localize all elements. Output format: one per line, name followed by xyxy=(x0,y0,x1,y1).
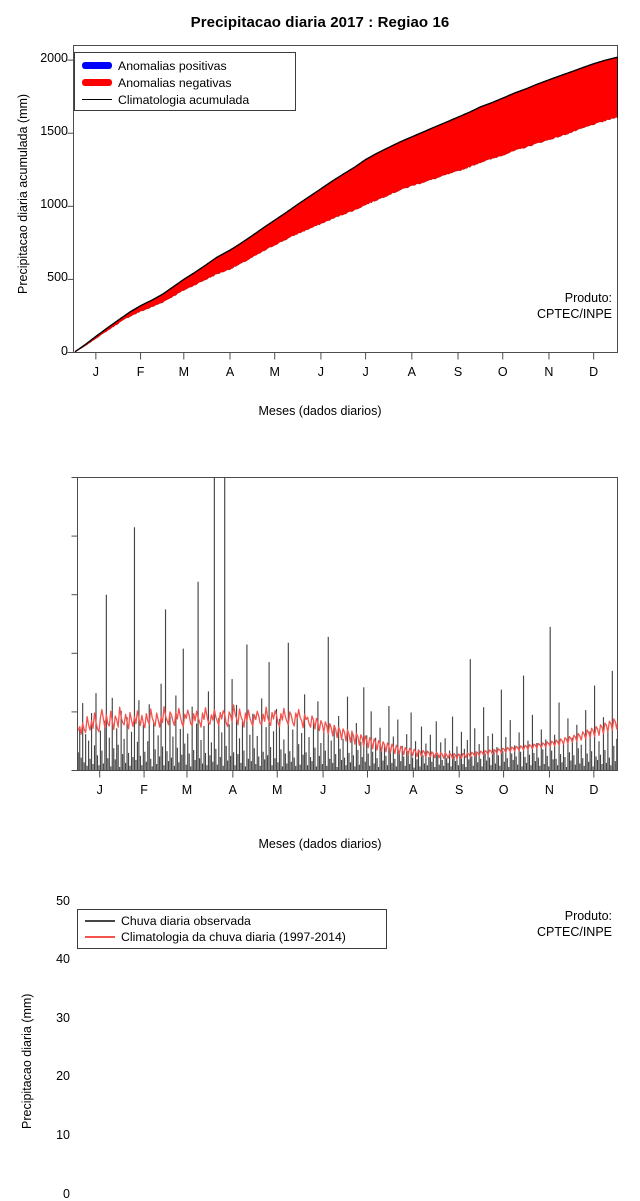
legend-label: Anomalias negativas xyxy=(116,76,231,90)
bottom-chart-legend: Chuva diaria observada Climatologia da c… xyxy=(77,909,387,949)
x-tick-label: M xyxy=(164,365,204,379)
x-tick-label: J xyxy=(346,365,386,379)
daily-precipitation-chart: 0 10 20 30 40 50 Precipitacao diaria (mm… xyxy=(0,425,640,850)
y-axis-title: Precipitacao diaria (mm) xyxy=(20,994,34,1129)
x-tick-label: J xyxy=(301,365,341,379)
x-tick-label: D xyxy=(574,365,614,379)
x-tick-label: N xyxy=(529,783,569,797)
x-tick-label: O xyxy=(483,365,523,379)
legend-swatch-gray-icon xyxy=(81,920,119,922)
top-chart-legend: Anomalias positivas Anomalias negativas … xyxy=(74,52,296,111)
y-tick-label: 0 xyxy=(18,344,68,358)
x-tick-label: S xyxy=(439,783,479,797)
producer-note-line1: Produto: xyxy=(0,290,612,306)
legend-item-climatologia-diaria[interactable]: Climatologia da chuva diaria (1997-2014) xyxy=(81,929,383,945)
legend-item-anomalias-positivas[interactable]: Anomalias positivas xyxy=(78,57,292,74)
y-tick-label: 10 xyxy=(22,1128,70,1142)
legend-item-climatologia-acumulada[interactable]: Climatologia acumulada xyxy=(78,91,292,108)
figure-page: Precipitacao diaria 2017 : Regiao 16 0 5… xyxy=(0,0,640,850)
y-tick-label: 0 xyxy=(22,1187,70,1201)
x-tick-label: A xyxy=(210,365,250,379)
legend-label: Chuva diaria observada xyxy=(119,914,251,928)
legend-swatch-black-icon xyxy=(78,99,116,101)
x-tick-label: M xyxy=(167,783,207,797)
legend-item-anomalias-negativas[interactable]: Anomalias negativas xyxy=(78,74,292,91)
x-tick-label: N xyxy=(529,365,569,379)
producer-note-line2: CPTEC/INPE xyxy=(0,306,612,322)
legend-swatch-red-icon xyxy=(81,936,119,938)
legend-label: Climatologia da chuva diaria (1997-2014) xyxy=(119,930,346,944)
x-tick-label: F xyxy=(121,365,161,379)
x-tick-label: A xyxy=(392,365,432,379)
x-tick-label: J xyxy=(347,783,387,797)
accumulated-precipitation-chart: Precipitacao diaria 2017 : Regiao 16 0 5… xyxy=(0,0,640,425)
x-axis-title: Meses (dados diarios) xyxy=(0,404,640,418)
x-tick-label: J xyxy=(303,783,343,797)
x-tick-label: S xyxy=(438,365,478,379)
y-tick-label: 2000 xyxy=(18,51,68,65)
x-tick-label: A xyxy=(213,783,253,797)
x-tick-label: M xyxy=(255,365,295,379)
y-axis-title: Precipitacao diaria acumulada (mm) xyxy=(16,94,30,294)
x-tick-label: A xyxy=(393,783,433,797)
x-tick-label: J xyxy=(80,783,120,797)
legend-label: Climatologia acumulada xyxy=(116,93,249,107)
x-tick-label: D xyxy=(574,783,614,797)
x-tick-label: M xyxy=(257,783,297,797)
legend-label: Anomalias positivas xyxy=(116,59,227,73)
y-tick-label: 50 xyxy=(22,894,70,908)
y-tick-label: 40 xyxy=(22,952,70,966)
x-tick-label: J xyxy=(76,365,116,379)
x-tick-label: F xyxy=(124,783,164,797)
legend-swatch-blue-icon xyxy=(78,62,116,69)
producer-note: Produto: CPTEC/INPE xyxy=(0,290,612,322)
legend-swatch-red-icon xyxy=(78,79,116,86)
legend-item-chuva-diaria-observada[interactable]: Chuva diaria observada xyxy=(81,913,383,929)
x-axis-title: Meses (dados diarios) xyxy=(0,837,640,851)
x-tick-label: O xyxy=(484,783,524,797)
